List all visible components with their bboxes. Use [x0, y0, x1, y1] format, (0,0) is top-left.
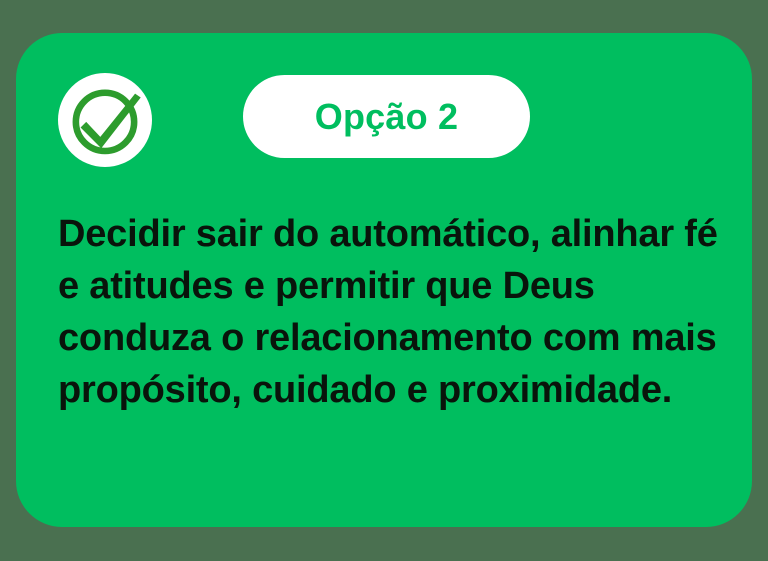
card-header: Opção 2 [16, 33, 752, 173]
option-card: Opção 2 Decidir sair do automático, alin… [16, 33, 752, 527]
card-body-text: Decidir sair do automático, alinhar fé e… [58, 208, 730, 416]
option-badge-label: Opção 2 [315, 99, 458, 135]
screenshot-stage: Opção 2 Decidir sair do automático, alin… [0, 0, 768, 561]
card-body: Decidir sair do automático, alinhar fé e… [58, 208, 730, 416]
option-badge: Opção 2 [243, 75, 530, 158]
check-circle-icon [58, 73, 152, 167]
